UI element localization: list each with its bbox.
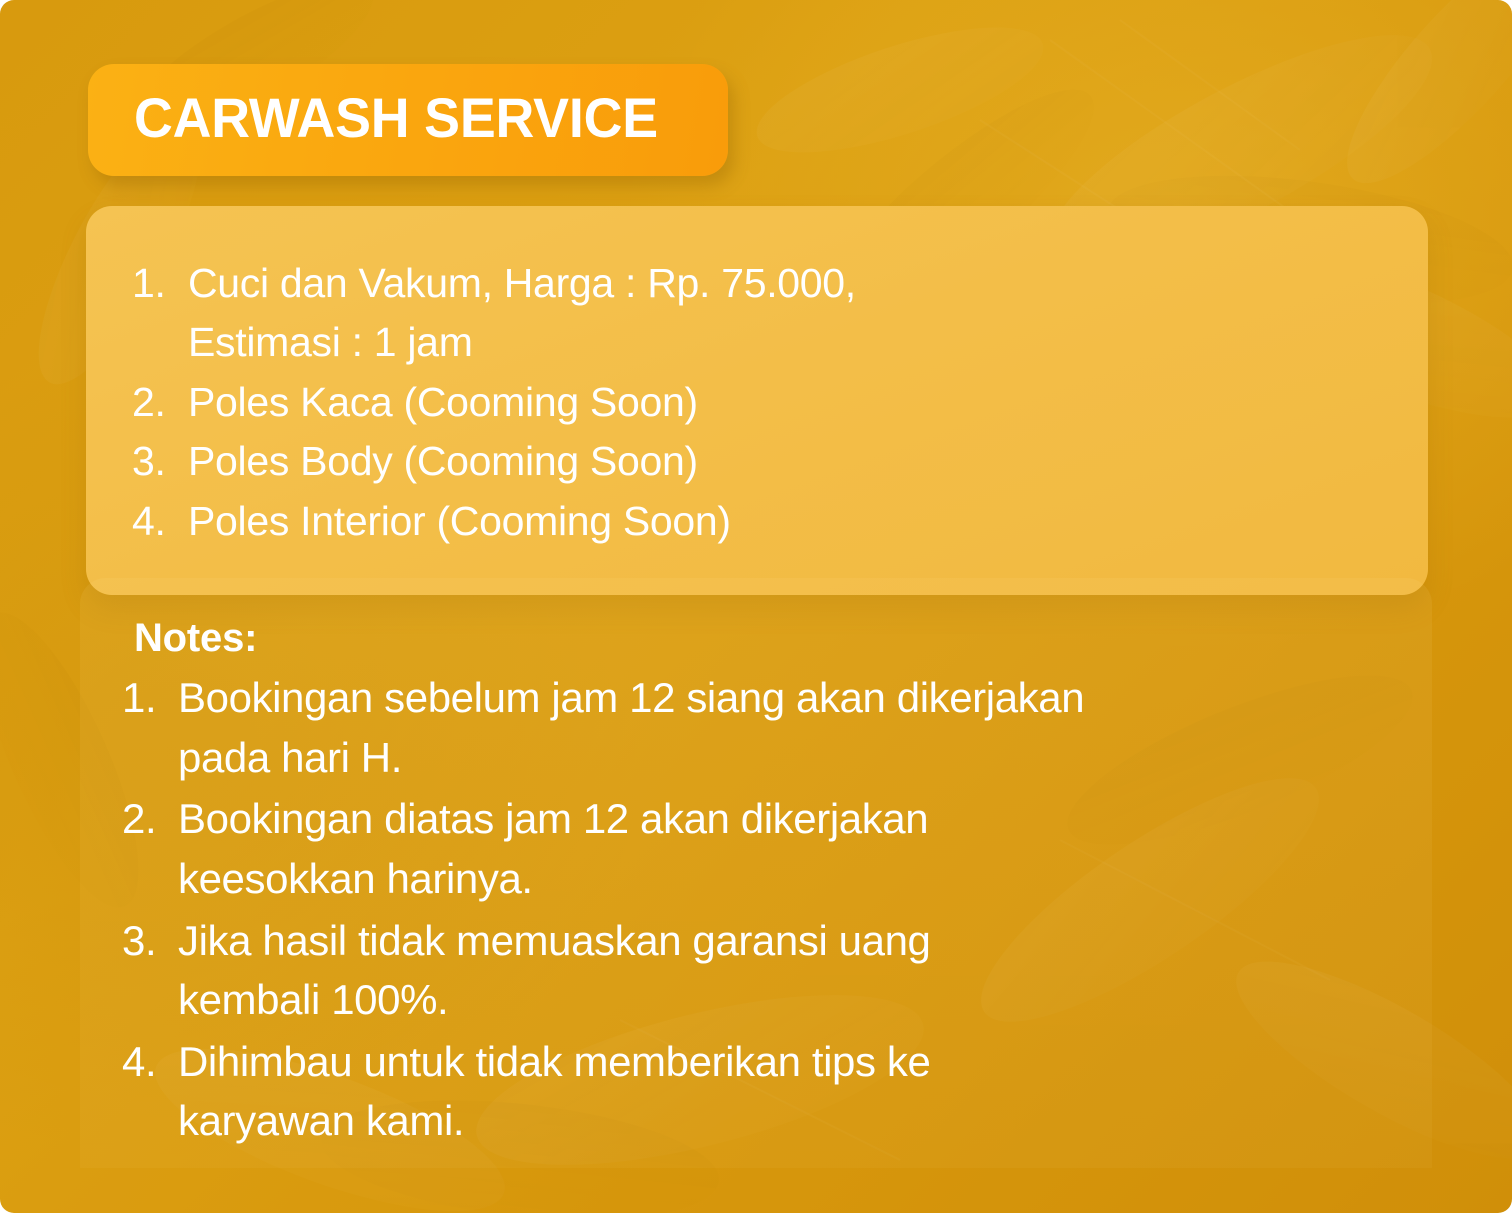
title-badge: CARWASH SERVICE bbox=[88, 64, 728, 176]
service-item-text: Poles Interior (Cooming Soon) bbox=[188, 492, 1382, 551]
service-list-card: 1. Cuci dan Vakum, Harga : Rp. 75.000, E… bbox=[86, 206, 1428, 595]
service-list-item: 4. Poles Interior (Cooming Soon) bbox=[132, 492, 1382, 551]
service-item-text: Cuci dan Vakum, Harga : Rp. 75.000, Esti… bbox=[188, 254, 1382, 373]
service-list-item: 2. Poles Kaca (Cooming Soon) bbox=[132, 373, 1382, 432]
note-item-number: 3. bbox=[122, 911, 178, 971]
note-item-text: Jika hasil tidak memuaskan garansi uang … bbox=[178, 911, 1392, 1030]
service-item-number: 4. bbox=[132, 492, 188, 551]
service-list: 1. Cuci dan Vakum, Harga : Rp. 75.000, E… bbox=[132, 254, 1382, 551]
service-item-text: Poles Body (Cooming Soon) bbox=[188, 432, 1382, 491]
service-item-number: 3. bbox=[132, 432, 188, 491]
notes-heading: Notes: bbox=[134, 614, 1392, 662]
note-item-text: Bookingan sebelum jam 12 siang akan dike… bbox=[178, 668, 1392, 787]
carwash-service-poster: CARWASH SERVICE 1. Cuci dan Vakum, Harga… bbox=[0, 0, 1512, 1213]
service-list-item: 3. Poles Body (Cooming Soon) bbox=[132, 432, 1382, 491]
service-item-number: 2. bbox=[132, 373, 188, 432]
service-list-item: 1. Cuci dan Vakum, Harga : Rp. 75.000, E… bbox=[132, 254, 1382, 373]
note-item-number: 4. bbox=[122, 1032, 178, 1092]
note-item-text: Bookingan diatas jam 12 akan dikerjakan … bbox=[178, 789, 1392, 908]
notes-list: 1. Bookingan sebelum jam 12 siang akan d… bbox=[122, 668, 1392, 1151]
service-item-number: 1. bbox=[132, 254, 188, 313]
title-badge-pill: CARWASH SERVICE bbox=[88, 64, 728, 176]
note-item-text: Dihimbau untuk tidak memberikan tips ke … bbox=[178, 1032, 1392, 1151]
page-title: CARWASH SERVICE bbox=[134, 90, 658, 146]
notes-list-item: 1. Bookingan sebelum jam 12 siang akan d… bbox=[122, 668, 1392, 787]
service-item-text: Poles Kaca (Cooming Soon) bbox=[188, 373, 1382, 432]
notes-list-item: 3. Jika hasil tidak memuaskan garansi ua… bbox=[122, 911, 1392, 1030]
notes-panel: Notes: 1. Bookingan sebelum jam 12 siang… bbox=[80, 578, 1432, 1168]
notes-list-item: 2. Bookingan diatas jam 12 akan dikerjak… bbox=[122, 789, 1392, 908]
note-item-number: 1. bbox=[122, 668, 178, 728]
notes-list-item: 4. Dihimbau untuk tidak memberikan tips … bbox=[122, 1032, 1392, 1151]
note-item-number: 2. bbox=[122, 789, 178, 849]
